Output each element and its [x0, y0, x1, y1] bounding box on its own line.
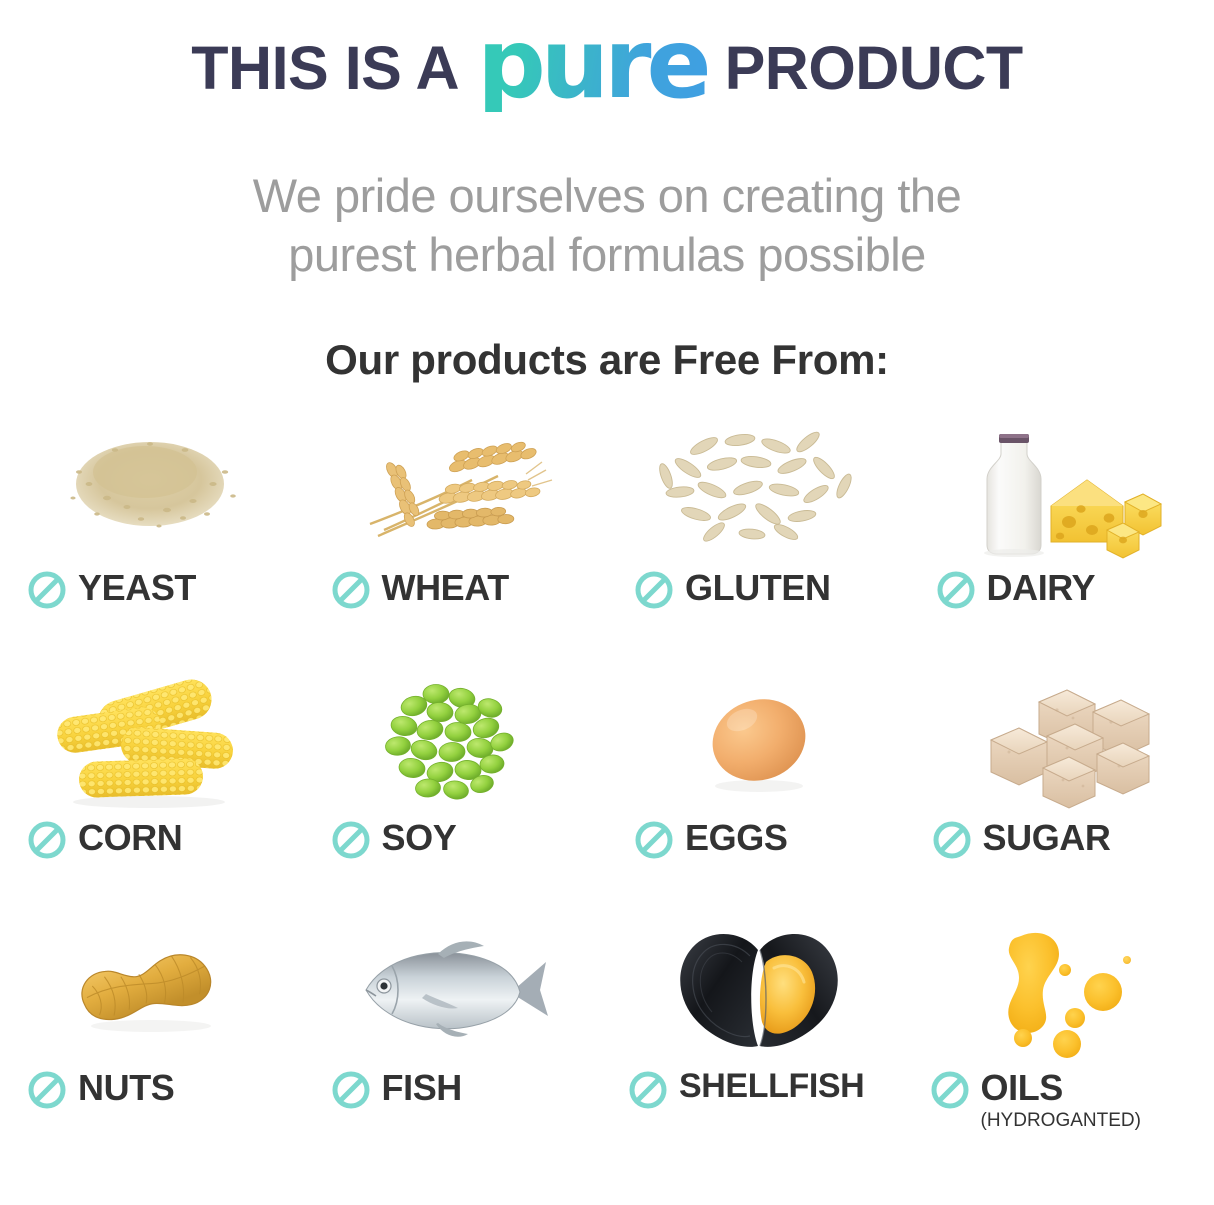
item-label: SUGAR — [983, 818, 1111, 858]
free-from-item-gluten: GLUTEN — [607, 406, 911, 656]
ban-icon — [627, 1069, 669, 1111]
item-label: WHEAT — [382, 568, 509, 608]
ban-icon — [26, 1069, 68, 1111]
subtitle: We pride ourselves on creating the pures… — [0, 166, 1214, 284]
brown-egg-image — [639, 656, 879, 816]
free-from-item-sugar: SUGAR — [911, 656, 1214, 906]
shellfish-label-row: SHELLFISH — [607, 1068, 911, 1111]
wheat-label-stack: WHEAT — [382, 568, 509, 608]
peanut-image — [32, 906, 272, 1066]
sugar-label-row: SUGAR — [911, 818, 1214, 861]
ban-icon — [931, 819, 973, 861]
wheat-stalks-image — [335, 406, 575, 566]
nuts-label-row: NUTS — [0, 1068, 304, 1111]
oil-splash-image — [942, 906, 1182, 1066]
item-label: DAIRY — [987, 568, 1096, 608]
free-from-item-eggs: EGGS — [607, 656, 911, 906]
ban-icon — [330, 819, 372, 861]
item-label: OILS — [981, 1068, 1141, 1108]
nuts-label-stack: NUTS — [78, 1068, 174, 1108]
sugar-label-stack: SUGAR — [983, 818, 1111, 858]
sugar-cubes-image — [942, 656, 1182, 816]
oils-label-stack: OILS (HYDROGANTED) — [981, 1068, 1141, 1132]
eggs-label-stack: EGGS — [685, 818, 787, 858]
ban-icon — [26, 569, 68, 611]
ban-icon — [26, 819, 68, 861]
wheat-label-row: WHEAT — [304, 568, 608, 611]
corn-label-stack: CORN — [78, 818, 182, 858]
item-label: FISH — [382, 1068, 462, 1108]
free-from-item-nuts: NUTS — [0, 906, 304, 1156]
pure-product-infographic: THIS IS A pure PRODUCT We pride ourselve… — [0, 0, 1214, 1205]
free-from-item-wheat: WHEAT — [304, 406, 608, 656]
yeast-granules-image — [32, 406, 272, 566]
free-from-item-shellfish: SHELLFISH — [607, 906, 911, 1156]
ban-icon — [633, 819, 675, 861]
dairy-label-stack: DAIRY — [987, 568, 1096, 608]
soy-label-stack: SOY — [382, 818, 457, 858]
ban-icon — [633, 569, 675, 611]
item-label: GLUTEN — [685, 568, 831, 608]
item-label: YEAST — [78, 568, 196, 608]
brand-logo-pure: pure — [477, 16, 707, 112]
gluten-label-row: GLUTEN — [607, 568, 911, 611]
header-suffix: PRODUCT — [725, 38, 1023, 99]
soybeans-image — [335, 656, 575, 816]
ban-icon — [330, 1069, 372, 1111]
corn-label-row: CORN — [0, 818, 304, 861]
ban-icon — [935, 569, 977, 611]
free-from-item-yeast: YEAST — [0, 406, 304, 656]
free-from-grid: YEAST — [0, 406, 1214, 1156]
corn-cobs-image — [32, 656, 272, 816]
item-sub-label: (HYDROGANTED) — [981, 1110, 1141, 1133]
page-title: Our products are Free From: — [0, 336, 1214, 384]
fish-label-row: FISH — [304, 1068, 608, 1111]
grain-kernels-image — [639, 406, 879, 566]
item-label: SHELLFISH — [679, 1068, 864, 1105]
free-from-item-soy: SOY — [304, 656, 608, 906]
eggs-label-row: EGGS — [607, 818, 911, 861]
free-from-item-corn: CORN — [0, 656, 304, 906]
fish-image — [335, 906, 575, 1066]
subtitle-line-2: purest herbal formulas possible — [0, 225, 1214, 284]
mussel-heart-image — [639, 906, 879, 1066]
fish-label-stack: FISH — [382, 1068, 462, 1108]
free-from-item-fish: FISH — [304, 906, 608, 1156]
item-label: SOY — [382, 818, 457, 858]
soy-label-row: SOY — [304, 818, 608, 861]
item-label: NUTS — [78, 1068, 174, 1108]
ban-icon — [330, 569, 372, 611]
item-label: CORN — [78, 818, 182, 858]
milk-bottle-cheese-image — [942, 406, 1182, 566]
dairy-label-row: DAIRY — [911, 568, 1214, 611]
header: THIS IS A pure PRODUCT — [0, 0, 1214, 110]
ban-icon — [929, 1069, 971, 1111]
oils-label-row: OILS (HYDROGANTED) — [911, 1068, 1214, 1132]
yeast-label-row: YEAST — [0, 568, 304, 611]
free-from-item-dairy: DAIRY — [911, 406, 1214, 656]
shellfish-label-stack: SHELLFISH — [679, 1068, 864, 1105]
gluten-label-stack: GLUTEN — [685, 568, 831, 608]
header-prefix: THIS IS A — [191, 38, 459, 99]
subtitle-line-1: We pride ourselves on creating the — [0, 166, 1214, 225]
free-from-item-oils: OILS (HYDROGANTED) — [911, 906, 1214, 1156]
yeast-label-stack: YEAST — [78, 568, 196, 608]
item-label: EGGS — [685, 818, 787, 858]
